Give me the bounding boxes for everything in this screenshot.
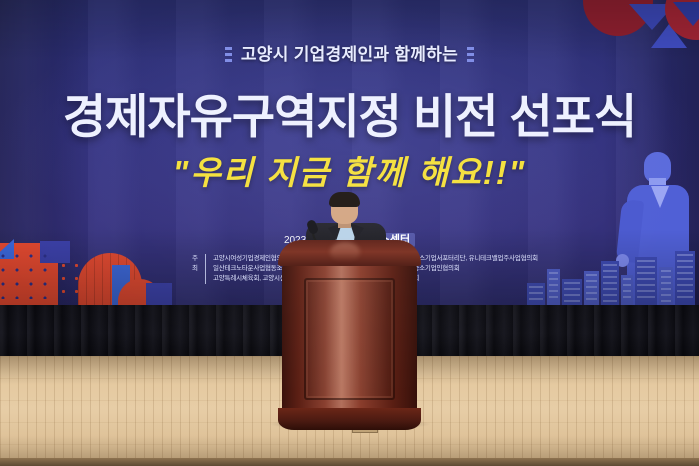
host-label-line2: 최 xyxy=(192,264,198,274)
podium-lectern xyxy=(278,240,421,426)
banner-quote: "우리 지금 함께 해요!!" xyxy=(0,146,699,194)
stage-front-edge xyxy=(0,458,699,466)
host-label: 주 최 xyxy=(192,254,198,284)
podium-recessed-panel xyxy=(304,278,395,400)
dot-ornament-right-icon xyxy=(467,47,474,63)
podium-base xyxy=(278,408,421,430)
podium-arched-top xyxy=(278,240,421,266)
speaker-hair xyxy=(329,192,360,207)
banner-subtitle-text: 고양시 기업경제인과 함께하는 xyxy=(241,45,458,64)
dot-ornament-left-icon xyxy=(225,47,232,63)
host-label-line1: 주 xyxy=(192,254,198,264)
banner-main-title: 경제자유구역지정 비전 선포식 xyxy=(0,78,699,147)
photograph-scene: 고양시 기업경제인과 함께하는 경제자유구역지정 비전 선포식 "우리 지금 함… xyxy=(0,0,699,466)
podium-front-body xyxy=(282,264,417,414)
podium-highlight xyxy=(330,242,360,262)
host-divider xyxy=(205,254,206,284)
banner-subtitle: 고양시 기업경제인과 함께하는 xyxy=(0,40,699,65)
